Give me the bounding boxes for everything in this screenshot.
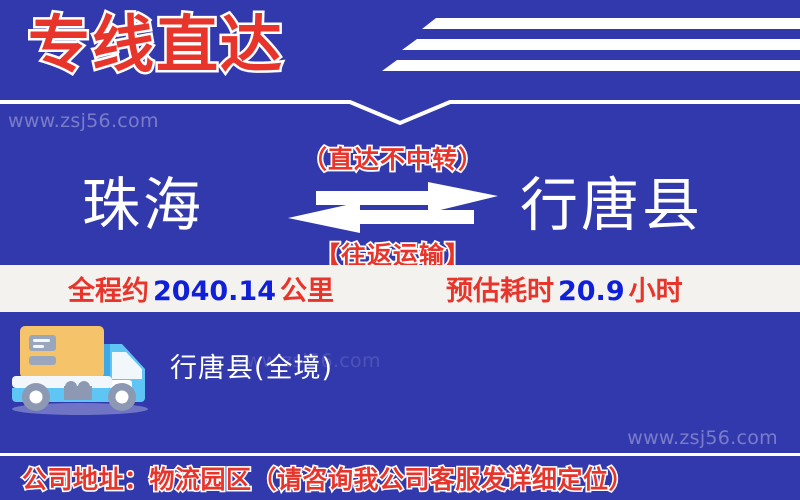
- distance-unit-label: 公里: [280, 276, 334, 307]
- distance-value: 2040.14: [149, 276, 280, 307]
- stripe-1: [422, 18, 800, 29]
- footer-bar: 公司地址：物流园区（请咨询我公司客服发详细定位）: [0, 456, 800, 500]
- estimated-duration: 预估耗时20.9小时: [446, 269, 683, 308]
- duration-unit-label: 小时: [629, 276, 683, 307]
- watermark-top: www.zsj56.com: [8, 110, 159, 132]
- stats-band: 全程约2040.14公里 预估耗时20.9小时: [0, 265, 800, 312]
- destination-city: 行唐县: [520, 158, 703, 242]
- stripe-2: [402, 39, 800, 50]
- company-address: 公司地址：物流园区（请咨询我公司客服发详细定位）: [22, 460, 634, 496]
- delivery-truck-icon: [6, 318, 161, 420]
- decorative-stripes: [380, 0, 800, 105]
- route-center-block: （直达不中转） 【往返运输】: [268, 140, 518, 272]
- route-row: 珠海 （直达不中转） 【往返运输】 行唐县: [0, 150, 800, 260]
- logistics-route-banner: 专线直达 www.zsj56.com 珠海 （直达不中转） 【往返运输】 行唐县…: [0, 0, 800, 500]
- banner-headline: 专线直达: [28, 2, 284, 89]
- stripe-3: [382, 60, 800, 71]
- coverage-row: 行唐县(全境): [0, 318, 800, 418]
- origin-city: 珠海: [82, 158, 204, 242]
- tagline-direct: （直达不中转）: [268, 140, 518, 176]
- watermark-middle: www.zsj56.com: [230, 350, 381, 372]
- watermark-bottom: www.zsj56.com: [627, 427, 778, 449]
- total-distance: 全程约2040.14公里: [68, 269, 334, 308]
- distance-prefix-label: 全程约: [68, 276, 149, 307]
- duration-prefix-label: 预估耗时: [446, 276, 554, 307]
- bidirectional-arrow-icon: [288, 180, 498, 234]
- duration-value: 20.9: [554, 276, 629, 307]
